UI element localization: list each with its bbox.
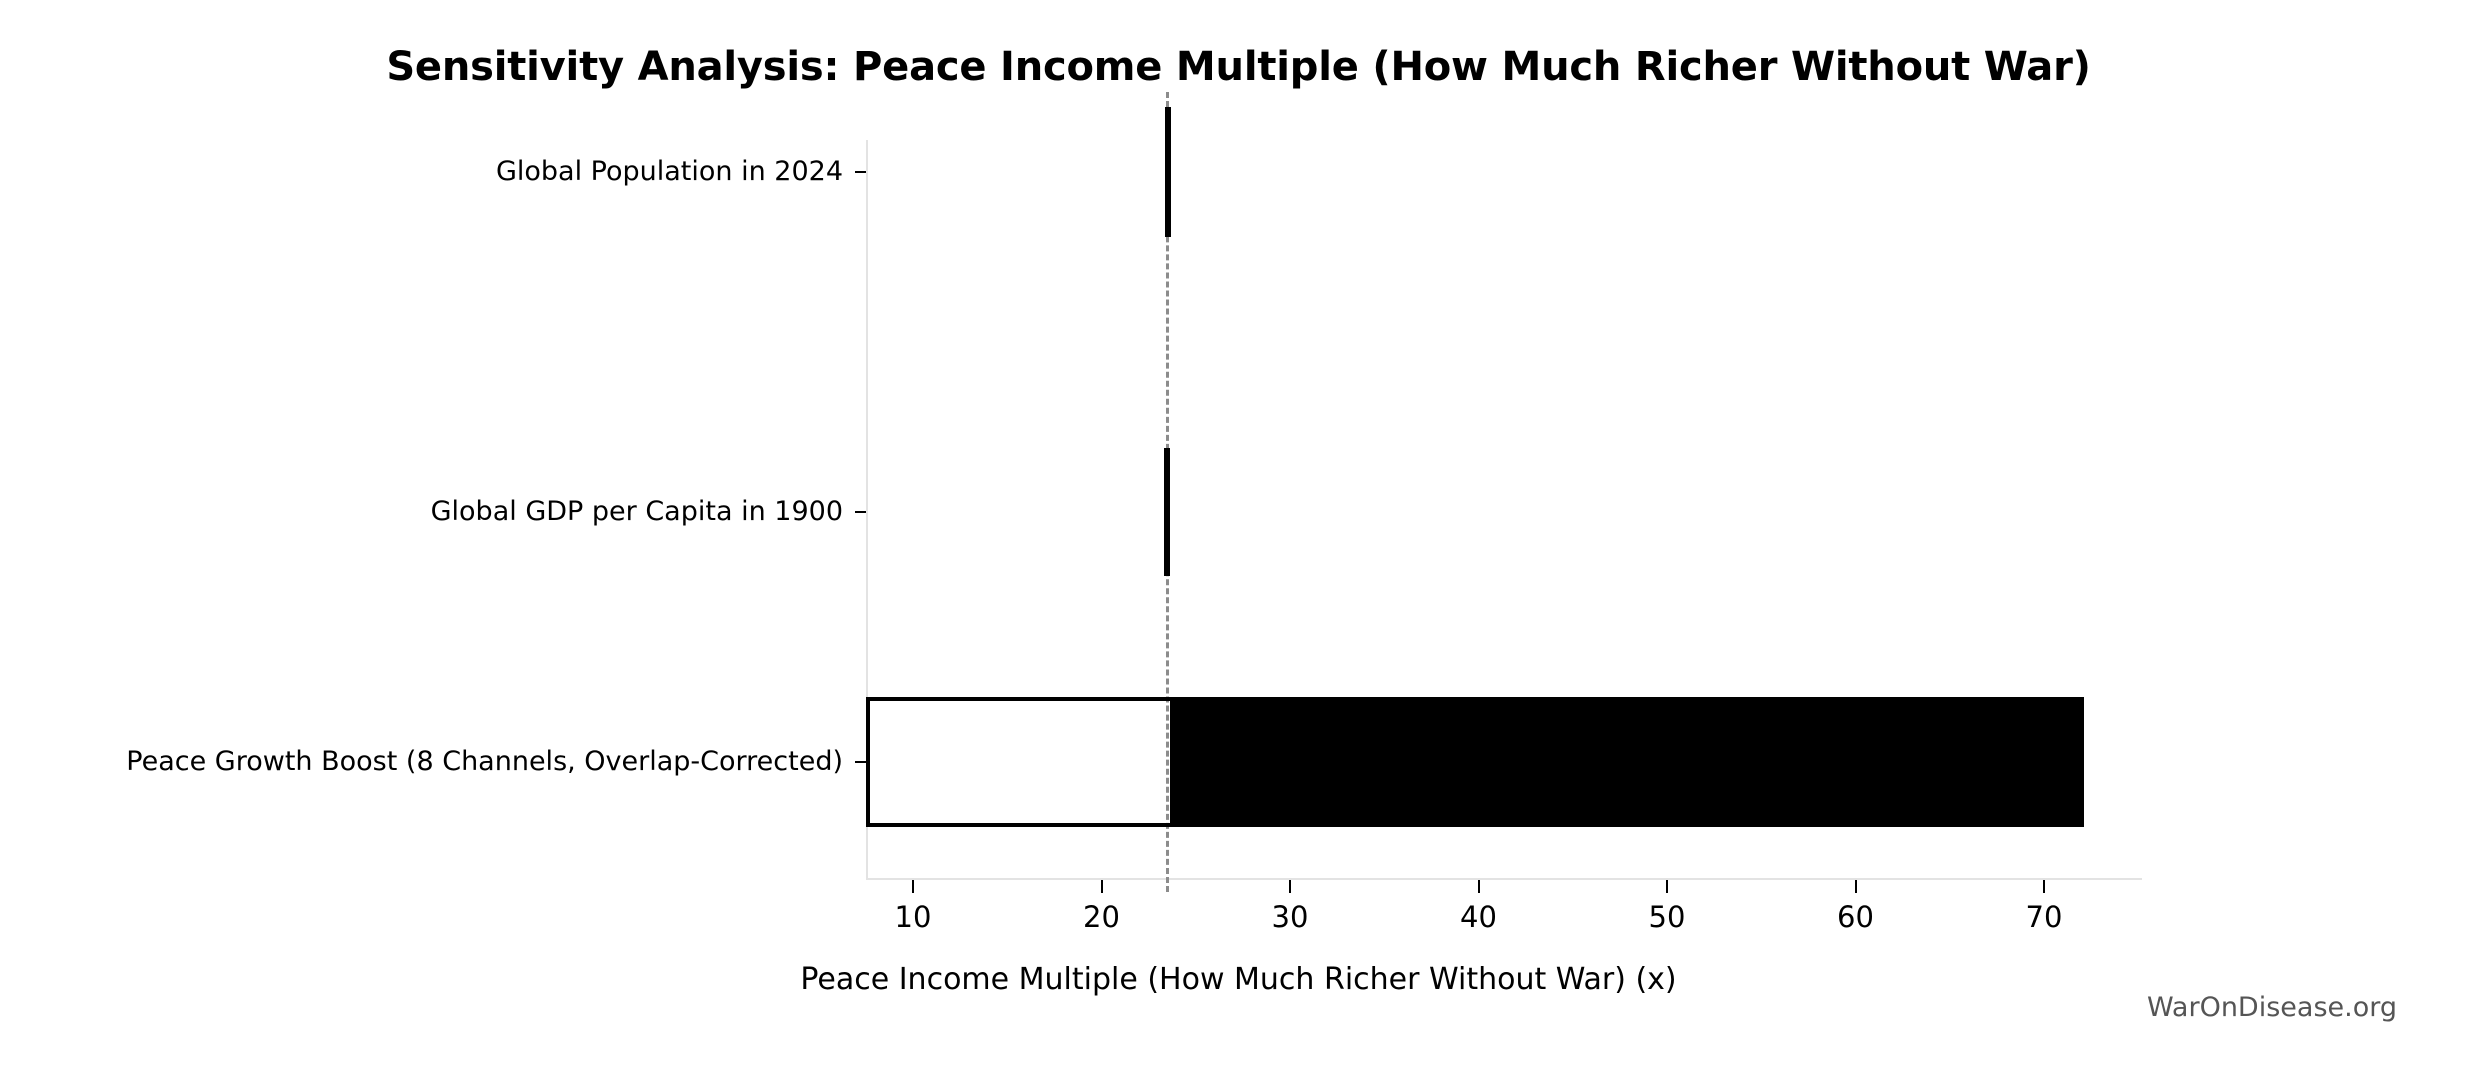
bar-global-gdp-per-capita-1900[interactable] — [1164, 448, 1170, 576]
x-tick-label-70: 70 — [2026, 900, 2063, 934]
x-tick-20 — [1101, 880, 1103, 893]
y-axis-label-global-gdp-per-capita-1900: Global GDP per Capita in 1900 — [431, 496, 843, 528]
x-tick-40 — [1478, 880, 1480, 893]
x-tick-label-30: 30 — [1272, 900, 1309, 934]
x-axis-title: Peace Income Multiple (How Much Richer W… — [0, 962, 2477, 997]
x-tick-label-50: 50 — [1649, 900, 1686, 934]
y-tick-2 — [855, 761, 866, 763]
x-tick-label-10: 10 — [895, 900, 932, 934]
x-tick-label-20: 20 — [1083, 900, 1120, 934]
plot-area: 10 20 30 40 50 60 70 — [866, 140, 2142, 880]
x-tick-label-60: 60 — [1837, 900, 1874, 934]
x-tick-30 — [1289, 880, 1291, 893]
chart-title: Sensitivity Analysis: Peace Income Multi… — [0, 44, 2477, 90]
watermark: WarOnDisease.org — [2147, 992, 2397, 1023]
x-tick-60 — [1855, 880, 1857, 893]
x-axis-spine — [866, 878, 2142, 880]
x-tick-label-40: 40 — [1460, 900, 1497, 934]
y-axis-label-peace-growth-boost: Peace Growth Boost (8 Channels, Overlap-… — [126, 746, 843, 778]
x-tick-50 — [1666, 880, 1668, 893]
bar-peace-growth-boost[interactable] — [866, 697, 2084, 827]
y-tick-1 — [855, 511, 866, 513]
bar-fill-right — [1170, 701, 2080, 823]
x-tick-10 — [912, 880, 914, 893]
y-tick-0 — [855, 171, 866, 173]
y-axis-label-global-population-2024: Global Population in 2024 — [496, 156, 843, 188]
x-tick-70 — [2043, 880, 2045, 893]
bar-global-population-2024[interactable] — [1165, 107, 1171, 237]
